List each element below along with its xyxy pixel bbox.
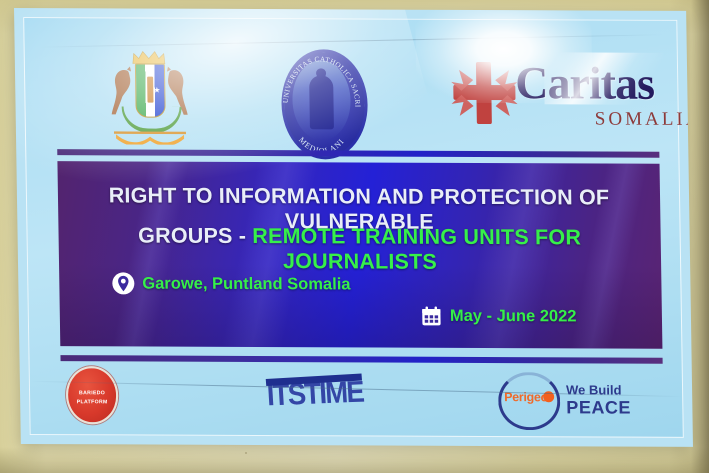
bariedo-disc: BARIEDO PLATFORM bbox=[66, 366, 119, 424]
bariedo-line2: PLATFORM bbox=[68, 399, 116, 405]
scroll-shape bbox=[114, 128, 186, 144]
banner-title-line-2: GROUPS - REMOTE TRAINING UNITS FOR JOURN… bbox=[58, 223, 661, 276]
divider-rule-bottom bbox=[60, 355, 662, 364]
partner-logo-row: BARIEDO PLATFORM ITSTIME Perigeo We Buil… bbox=[30, 364, 683, 447]
banner-date-text: May - June 2022 bbox=[450, 307, 577, 327]
calendar-icon bbox=[420, 305, 443, 328]
bariedo-platform-icon: BARIEDO PLATFORM bbox=[60, 363, 121, 425]
main-content-panel: RIGHT TO INFORMATION AND PROTECTION OF V… bbox=[57, 161, 662, 349]
seal-ring-text: UNIVERSITAS CATHOLICA SACRI CORDIS JESU … bbox=[275, 45, 369, 157]
banner-title-line-2-highlight: REMOTE TRAINING UNITS FOR JOURNALISTS bbox=[252, 224, 581, 274]
banner-face: ★ bbox=[23, 17, 684, 438]
crown-shape bbox=[132, 51, 166, 65]
banner-date: May - June 2022 bbox=[420, 305, 577, 329]
perigeo-logo-icon: Perigeo We Build PEACE bbox=[498, 370, 669, 431]
banner-title-line-2-prefix: GROUPS - bbox=[138, 223, 252, 247]
perigeo-dot bbox=[543, 391, 554, 402]
perigeo-tagline-1: We Build bbox=[566, 382, 622, 397]
caritas-subtitle: SOMALIA bbox=[595, 109, 693, 131]
itstime-logo-icon: ITSTIME bbox=[258, 371, 379, 422]
perigeo-tagline-2: PEACE bbox=[566, 397, 631, 418]
banner-border: ★ bbox=[14, 8, 693, 447]
logo-row: ★ bbox=[25, 44, 679, 159]
map-pin-icon bbox=[111, 271, 135, 295]
coat-of-arms-icon: ★ bbox=[99, 48, 201, 154]
bariedo-line1: BARIEDO bbox=[68, 390, 116, 396]
banner-location: Garowe, Puntland Somalia bbox=[111, 271, 351, 296]
banner-meta-row: Garowe, Puntland Somalia bbox=[59, 271, 662, 344]
caritas-logo: Caritas SOMALIA bbox=[449, 52, 661, 157]
star-shape: ★ bbox=[153, 87, 160, 95]
banner: ★ bbox=[14, 8, 701, 459]
caritas-wordmark: Caritas bbox=[515, 60, 654, 107]
svg-text:UNIVERSITAS CATHOLICA SACRI CO: UNIVERSITAS CATHOLICA SACRI CORDIS JESU bbox=[275, 45, 362, 108]
perigeo-wordmark: Perigeo bbox=[504, 390, 548, 404]
banner-location-text: Garowe, Puntland Somalia bbox=[142, 274, 350, 294]
caritas-cross-icon bbox=[449, 58, 520, 128]
university-seal-icon: UNIVERSITAS CATHOLICA SACRI CORDIS JESU … bbox=[275, 45, 369, 157]
banner-photo-scene: ★ bbox=[0, 0, 709, 473]
